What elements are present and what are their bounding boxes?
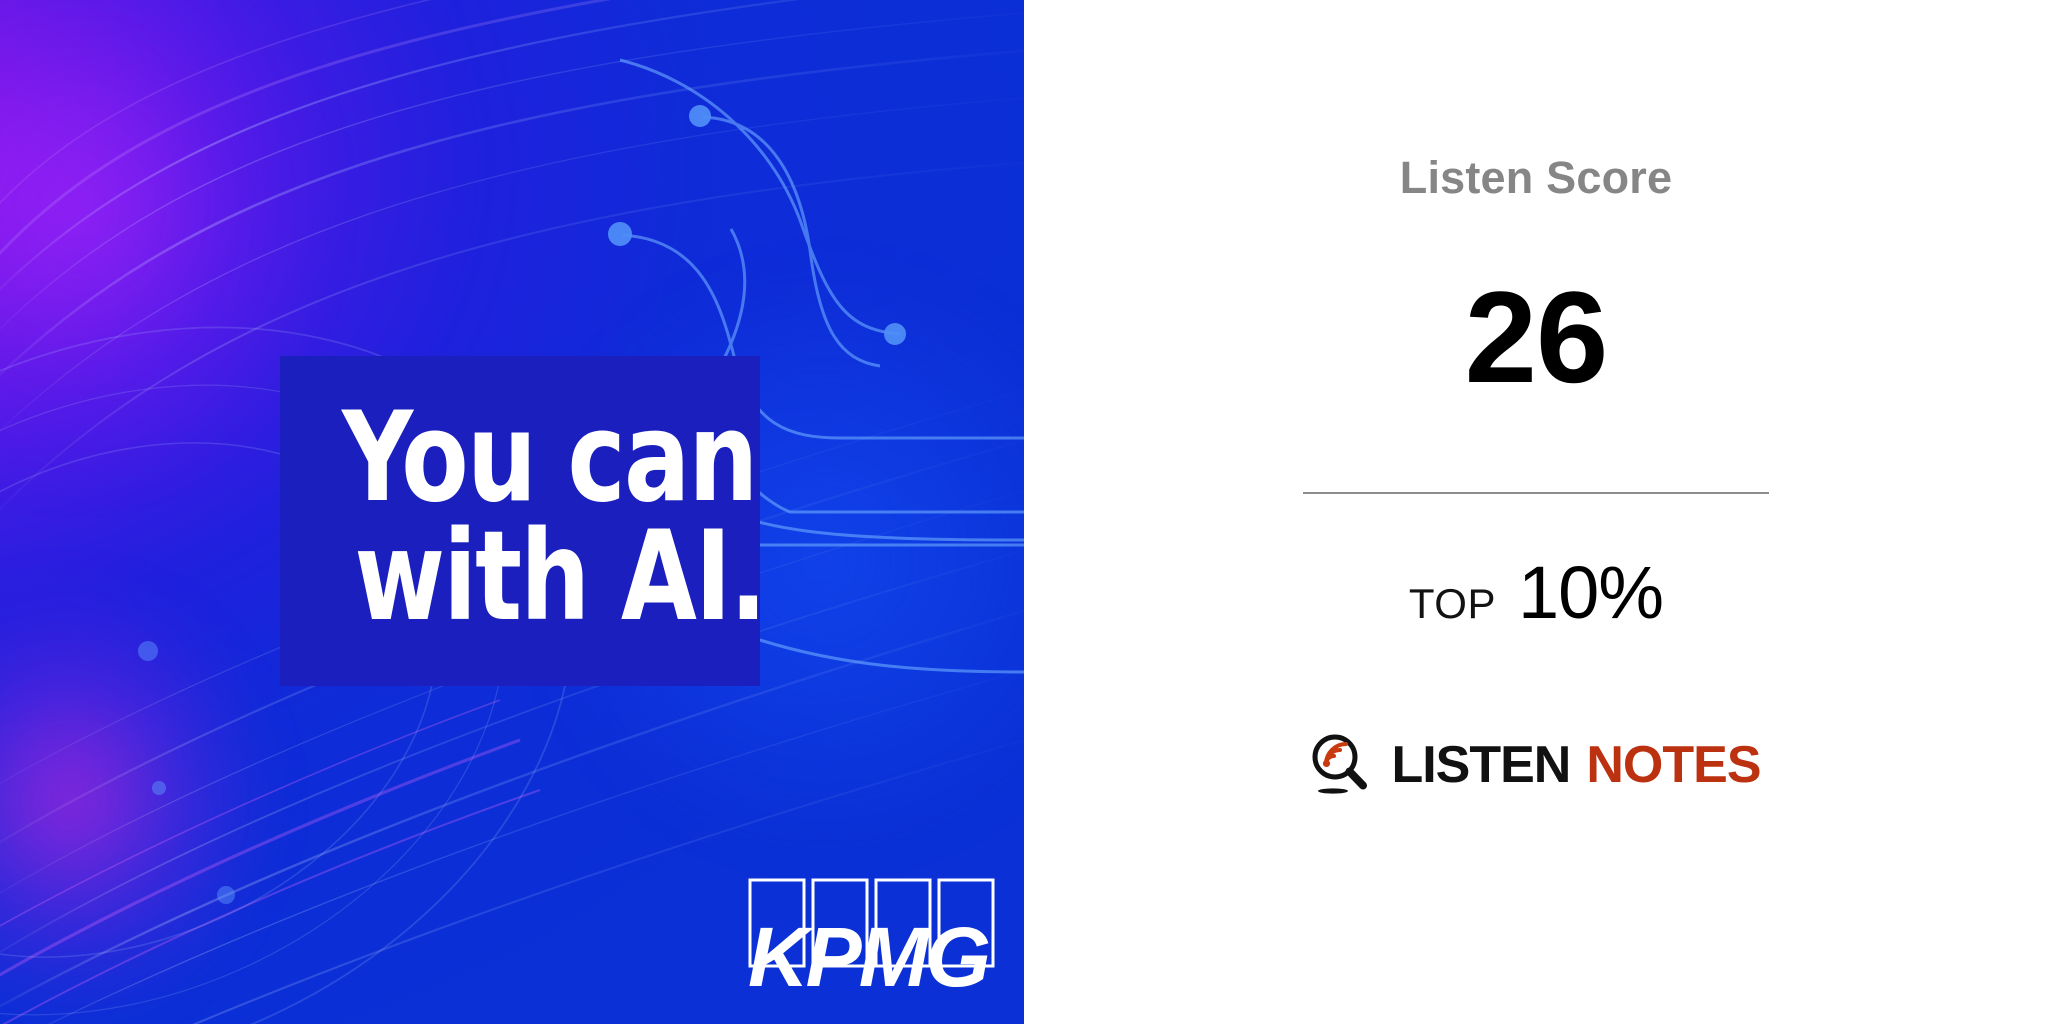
magnifier-rss-icon — [1311, 734, 1369, 796]
kpmg-wordmark: KPMG — [748, 910, 989, 996]
logo-word-notes: NOTES — [1586, 739, 1760, 791]
global-rank-row: TOP 10% — [1409, 556, 1663, 630]
logo-word-listen: LISTEN — [1391, 739, 1570, 791]
rank-label: TOP — [1409, 583, 1496, 625]
rank-percentile: 10% — [1518, 556, 1663, 630]
podcast-cover-art: You can with AI. KPMG — [0, 0, 1024, 1024]
kpmg-logo: KPMG — [748, 878, 996, 996]
headline-line-2: with AI. — [342, 518, 710, 637]
listen-notes-wordmark: LISTEN NOTES — [1391, 739, 1760, 791]
listen-score-panel: Listen Score 26 TOP 10% — [1024, 0, 2048, 1024]
listen-score-title: Listen Score — [1400, 155, 1673, 200]
headline-line-1: You can — [342, 399, 710, 518]
listen-notes-logo[interactable]: LISTEN NOTES — [1311, 734, 1760, 796]
score-divider — [1303, 492, 1769, 494]
listen-score-value: 26 — [1465, 272, 1608, 402]
headline-block: You can with AI. — [280, 356, 760, 686]
listen-score-card: You can with AI. KPMG Listen Score 26 TO… — [0, 0, 2048, 1024]
